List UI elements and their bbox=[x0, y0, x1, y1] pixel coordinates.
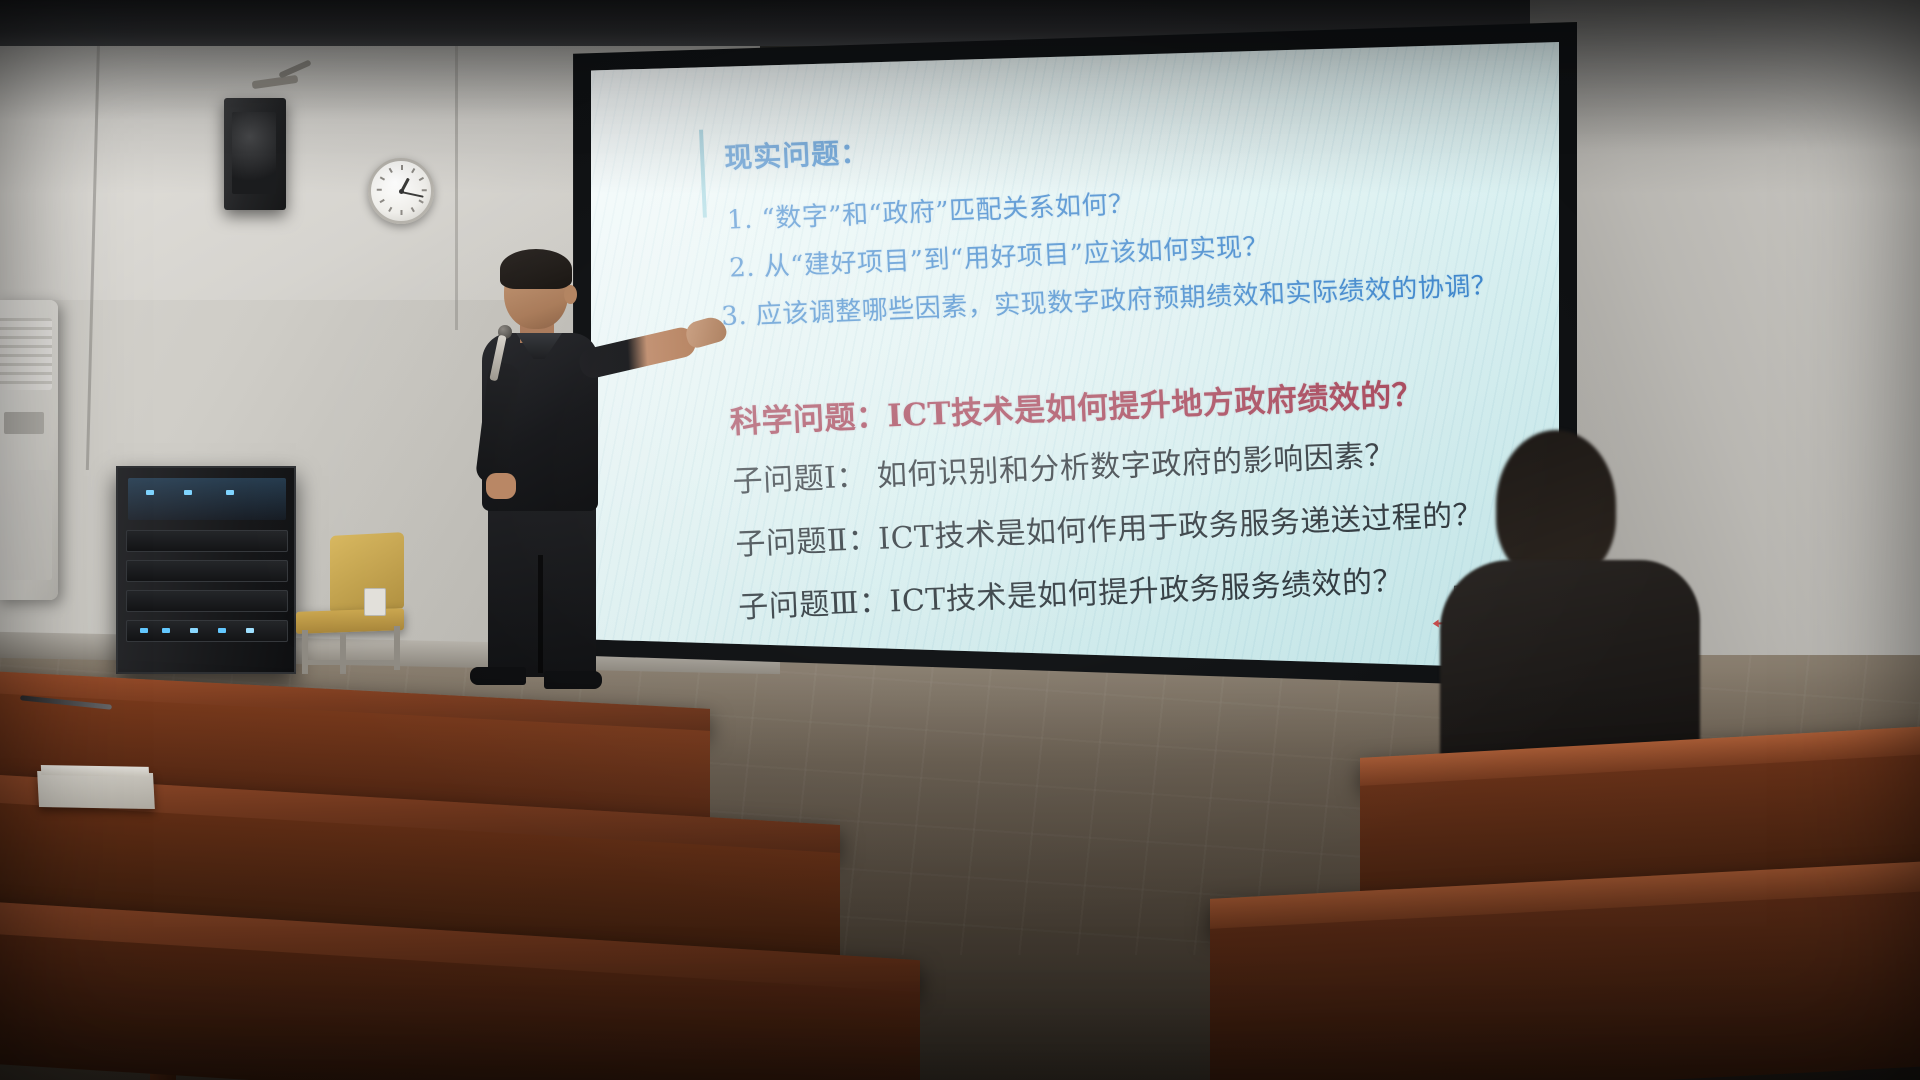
clock-tick bbox=[422, 189, 427, 191]
numbered-question-1: 1. “数字”和“政府”匹配关系如何？ bbox=[726, 183, 1135, 236]
presenter-left-shoe bbox=[470, 667, 526, 685]
clock-center-dot bbox=[399, 189, 404, 194]
clock-tick bbox=[411, 207, 415, 212]
power-outlet[interactable] bbox=[364, 588, 386, 616]
ac-vent bbox=[0, 318, 52, 390]
rack-unit bbox=[126, 530, 288, 552]
chair-leg bbox=[302, 630, 308, 674]
clock-tick bbox=[380, 199, 385, 203]
presenter-right-arm bbox=[577, 325, 699, 381]
ac-lower-body bbox=[0, 470, 52, 580]
accent-bar bbox=[699, 130, 707, 218]
chair-leg bbox=[340, 634, 346, 674]
presenter-ear bbox=[564, 285, 577, 304]
rack-led bbox=[246, 628, 254, 633]
presenter-hair bbox=[500, 249, 572, 289]
air-conditioner bbox=[0, 300, 58, 600]
presenter-leg-gap bbox=[538, 555, 543, 673]
clock-tick bbox=[380, 177, 385, 181]
equipment-rack bbox=[116, 466, 296, 674]
clock-tick bbox=[419, 177, 424, 181]
sub-question-2: 子问题Ⅱ：ICT技术是如何作用于政务服务递送过程的？ bbox=[734, 490, 1484, 564]
audience-member-left-head bbox=[1496, 430, 1616, 580]
presenter-left-hand bbox=[486, 473, 516, 499]
clock-tick bbox=[389, 168, 393, 173]
chair-seat bbox=[296, 608, 404, 634]
right-wall-shadow bbox=[1530, 0, 1920, 150]
slide-section-heading: 现实问题： bbox=[723, 131, 870, 177]
rack-led bbox=[140, 628, 148, 633]
presentation-slide: 现实问题： 1. “数字”和“政府”匹配关系如何？ 2. 从“建好项目”到“用好… bbox=[591, 42, 1559, 689]
numbered-question-2: 2. 从“建好项目”到“用好项目”应该如何实现？ bbox=[728, 226, 1269, 285]
lecture-hall-photo: 现实问题： 1. “数字”和“政府”匹配关系如何？ 2. 从“建好项目”到“用好… bbox=[0, 0, 1920, 1080]
wall-speaker bbox=[224, 98, 286, 210]
rack-led bbox=[226, 490, 234, 495]
clock-tick bbox=[377, 189, 382, 191]
rack-screen-glow bbox=[128, 478, 286, 520]
ac-control-panel bbox=[4, 412, 44, 434]
clock-tick bbox=[401, 165, 403, 170]
rack-led bbox=[162, 628, 170, 633]
chair-rail bbox=[302, 660, 396, 665]
clock-tick bbox=[401, 210, 403, 215]
rack-led bbox=[184, 490, 192, 495]
rack-led bbox=[146, 490, 154, 495]
rack-unit bbox=[126, 560, 288, 582]
clock-tick bbox=[419, 199, 424, 203]
rack-unit bbox=[126, 620, 288, 642]
rack-unit bbox=[126, 590, 288, 612]
rack-led bbox=[218, 628, 226, 633]
sub-question-3: 子问题Ⅲ：ICT技术是如何提升政务服务绩效的？ bbox=[737, 556, 1404, 627]
notebook[interactable] bbox=[37, 771, 155, 809]
science-question: 科学问题：ICT技术是如何提升地方政府绩效的？ bbox=[729, 369, 1424, 442]
projection-screen[interactable]: 现实问题： 1. “数字”和“政府”匹配关系如何？ 2. 从“建好项目”到“用好… bbox=[591, 42, 1559, 690]
wall-clock bbox=[368, 158, 434, 224]
clock-tick bbox=[411, 168, 415, 173]
clock-tick bbox=[389, 207, 393, 212]
presenter-right-shoe bbox=[544, 671, 602, 689]
sub-question-1: 子问题Ⅰ： 如何识别和分析数字政府的影响因素？ bbox=[732, 430, 1396, 501]
presenter bbox=[440, 255, 710, 695]
clock-minute-hand bbox=[401, 191, 424, 198]
rack-led bbox=[190, 628, 198, 633]
